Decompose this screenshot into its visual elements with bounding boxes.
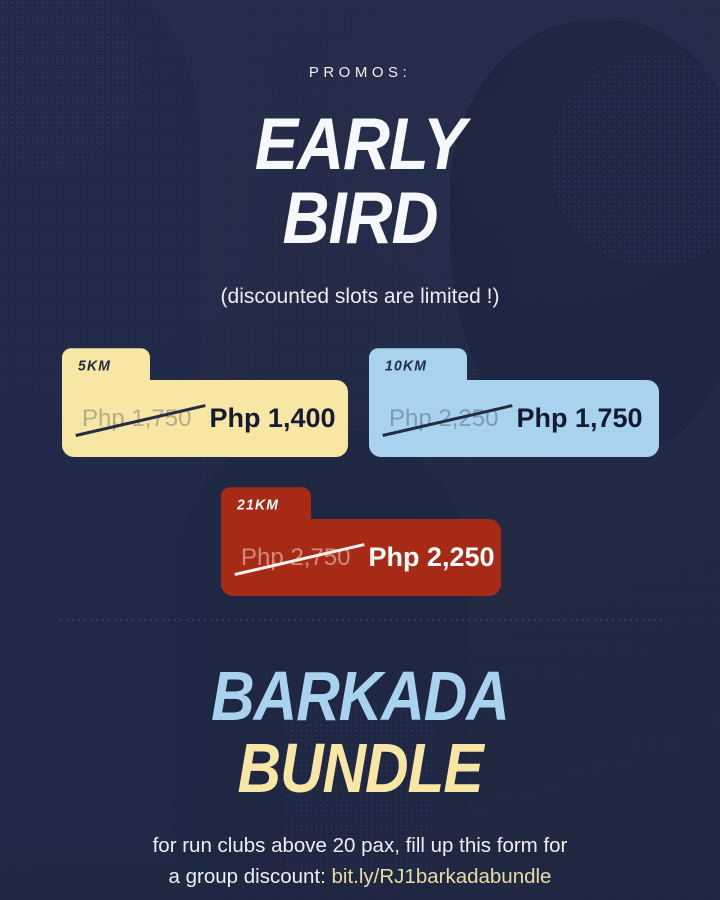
subtitle: (discounted slots are limited !) bbox=[0, 285, 720, 309]
page-title: EARLY BIRD bbox=[0, 111, 720, 253]
title-line-1: EARLY bbox=[0, 111, 720, 178]
bundle-note-prefix: a group discount: bbox=[169, 865, 332, 888]
bundle-title-line-2: BUNDLE bbox=[0, 736, 720, 801]
new-price-10km: Php 1,750 bbox=[516, 403, 642, 434]
bundle-title: BARKADA BUNDLE bbox=[0, 665, 720, 802]
poster-content: PROMOS: EARLY BIRD (discounted slots are… bbox=[0, 0, 720, 900]
new-price-5km: Php 1,400 bbox=[209, 403, 335, 434]
new-price-21km: Php 2,250 bbox=[368, 542, 494, 573]
bundle-note-line-1: for run clubs above 20 pax, fill up this… bbox=[0, 831, 720, 862]
promos-label: PROMOS: bbox=[0, 0, 720, 81]
bundle-form-link[interactable]: bit.ly/RJ1barkadabundle bbox=[332, 865, 552, 888]
old-price-21km: Php 2,750 bbox=[241, 544, 350, 572]
old-price-5km: Php 1,750 bbox=[82, 405, 191, 433]
price-card-5km[interactable]: 5KM Php 1,750 Php 1,400 bbox=[62, 349, 348, 457]
old-price-10km: Php 2,250 bbox=[389, 405, 498, 433]
price-card-tab-21km: 21KM bbox=[221, 487, 311, 520]
price-card-body-21km: Php 2,750 Php 2,250 bbox=[221, 519, 501, 596]
bundle-note-line-2: a group discount: bit.ly/RJ1barkadabundl… bbox=[0, 862, 720, 893]
price-card-21km[interactable]: 21KM Php 2,750 Php 2,250 bbox=[221, 488, 501, 596]
price-card-group: 5KM Php 1,750 Php 1,400 10KM Php 2,250 P… bbox=[0, 349, 720, 609]
bundle-title-line-1: BARKADA bbox=[0, 665, 720, 730]
price-card-body-10km: Php 2,250 Php 1,750 bbox=[369, 380, 659, 457]
section-divider bbox=[58, 619, 662, 621]
price-card-tab-10km: 10KM bbox=[369, 348, 467, 381]
bundle-note: for run clubs above 20 pax, fill up this… bbox=[0, 831, 720, 893]
price-card-body-5km: Php 1,750 Php 1,400 bbox=[62, 380, 348, 457]
title-line-2: BIRD bbox=[0, 185, 720, 252]
price-card-10km[interactable]: 10KM Php 2,250 Php 1,750 bbox=[369, 349, 659, 457]
price-card-tab-5km: 5KM bbox=[62, 348, 150, 381]
